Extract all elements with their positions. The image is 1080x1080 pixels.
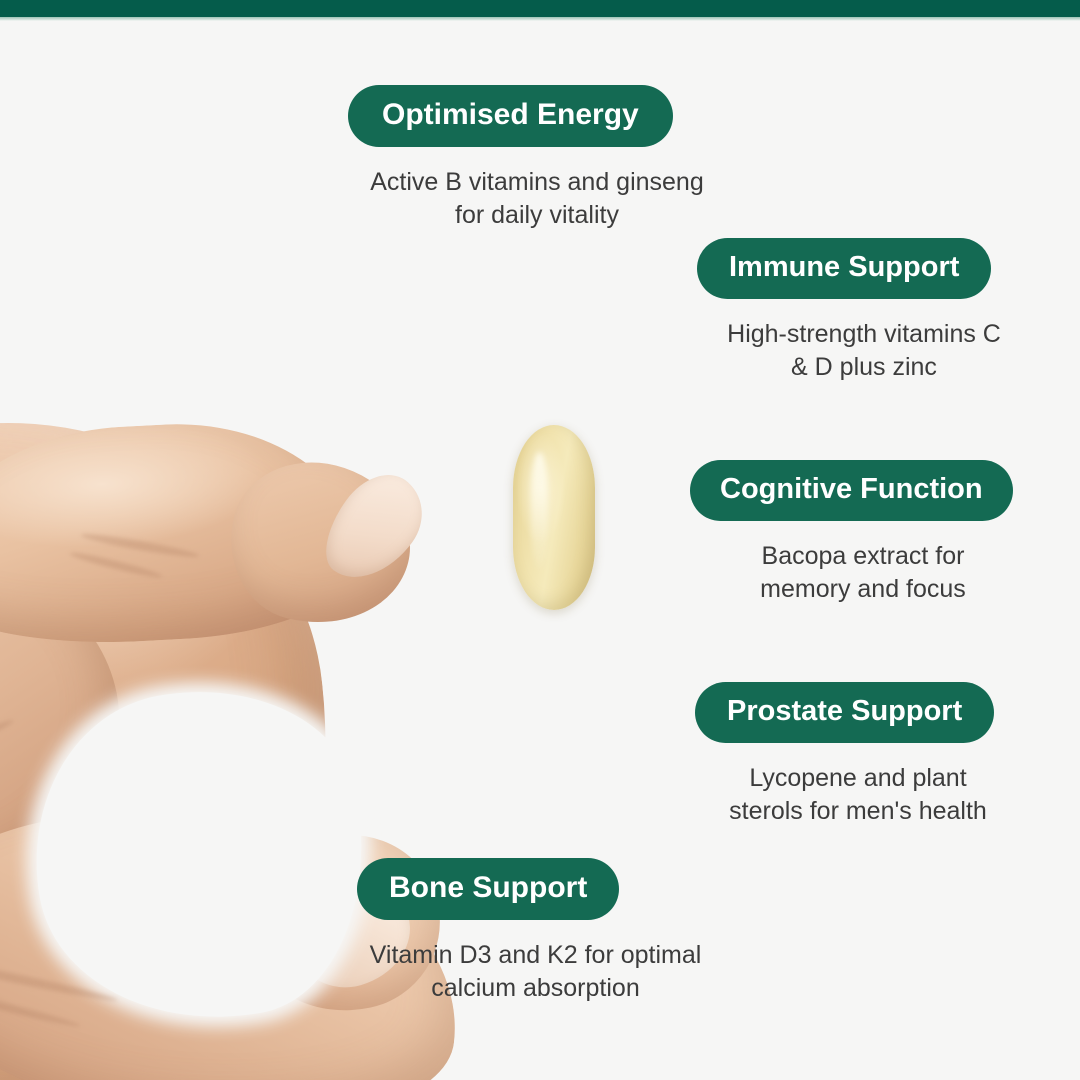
callout-bone-support: Bone Support Vitamin D3 and K2 for optim… bbox=[357, 858, 714, 1004]
callout-description: Vitamin D3 and K2 for optimal calcium ab… bbox=[357, 939, 714, 1004]
brand-top-bar bbox=[0, 0, 1080, 17]
product-benefits-infographic: Optimised Energy Active B vitamins and g… bbox=[0, 0, 1080, 1080]
callout-description: Bacopa extract for memory and focus bbox=[690, 540, 1036, 605]
callout-description: Lycopene and plant sterols for men's hea… bbox=[695, 762, 1021, 827]
callout-badge-label: Bone Support bbox=[357, 858, 619, 920]
supplement-tablet bbox=[513, 425, 595, 610]
tablet-highlight bbox=[531, 452, 548, 570]
callout-badge-label: Immune Support bbox=[697, 238, 991, 299]
callout-cognitive-function: Cognitive Function Bacopa extract for me… bbox=[690, 460, 1036, 605]
callout-description: Active B vitamins and ginseng for daily … bbox=[348, 166, 726, 231]
callout-description: High-strength vitamins C & D plus zinc bbox=[697, 318, 1031, 383]
callout-immune-support: Immune Support High-strength vitamins C … bbox=[697, 238, 1031, 383]
callout-badge-label: Prostate Support bbox=[695, 682, 994, 743]
callout-prostate-support: Prostate Support Lycopene and plant ster… bbox=[695, 682, 1021, 827]
callout-badge-label: Cognitive Function bbox=[690, 460, 1013, 521]
callout-optimised-energy: Optimised Energy Active B vitamins and g… bbox=[348, 85, 726, 231]
callout-badge-label: Optimised Energy bbox=[348, 85, 673, 147]
